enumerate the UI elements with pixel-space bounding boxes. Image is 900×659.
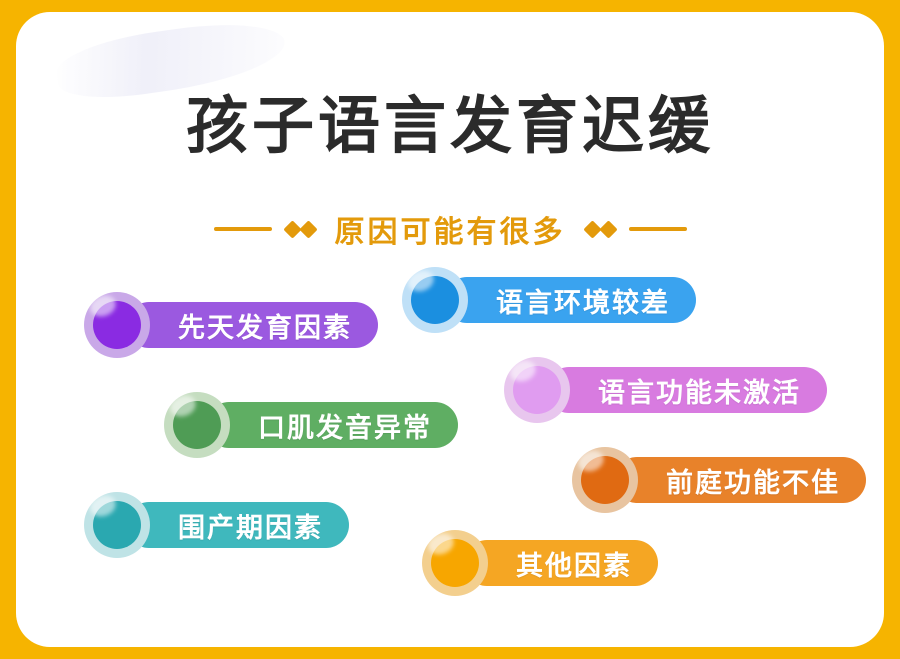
- ring-icon: [84, 492, 150, 558]
- cause-pill[interactable]: 口肌发音异常: [206, 402, 458, 448]
- cause-pill[interactable]: 语言环境较差: [444, 277, 696, 323]
- subtitle-text: 原因可能有很多: [329, 207, 572, 251]
- cause-label: 口肌发音异常: [258, 406, 432, 445]
- subtitle-line-right: [629, 227, 687, 231]
- cause-label: 前庭功能不佳: [666, 461, 840, 500]
- ring-inner-icon: [431, 539, 479, 587]
- cause-label: 先天发育因素: [178, 306, 352, 345]
- ring-icon: [84, 292, 150, 358]
- poster-root: 孩子语言发育迟缓 原因可能有很多 先天发育因素语言环境较差语言功能未激活口肌发音…: [0, 0, 900, 659]
- cause-pill[interactable]: 其他因素: [464, 540, 658, 586]
- cause-label: 语言功能未激活: [598, 371, 801, 410]
- diamond-icon: [583, 220, 601, 238]
- ring-icon: [422, 530, 488, 596]
- ring-inner-icon: [173, 401, 221, 449]
- cause-pill[interactable]: 先天发育因素: [126, 302, 378, 348]
- ring-inner-icon: [93, 501, 141, 549]
- ring-icon: [572, 447, 638, 513]
- ring-inner-icon: [581, 456, 629, 504]
- diamond-icon: [283, 220, 301, 238]
- ring-icon: [402, 267, 468, 333]
- ring-icon: [504, 357, 570, 423]
- cause-pill[interactable]: 语言功能未激活: [546, 367, 827, 413]
- subtitle-row: 原因可能有很多: [16, 207, 884, 251]
- subtitle-line-left: [214, 227, 272, 231]
- cause-pill[interactable]: 围产期因素: [126, 502, 349, 548]
- cause-label: 语言环境较差: [496, 281, 670, 320]
- cause-pill[interactable]: 前庭功能不佳: [614, 457, 866, 503]
- ring-inner-icon: [513, 366, 561, 414]
- ring-icon: [164, 392, 230, 458]
- ring-inner-icon: [93, 301, 141, 349]
- page-title: 孩子语言发育迟缓: [16, 90, 884, 163]
- diamond-group-left: [286, 223, 315, 236]
- diamond-icon: [599, 220, 617, 238]
- diamond-group-right: [586, 223, 615, 236]
- ring-inner-icon: [411, 276, 459, 324]
- cause-label: 围产期因素: [178, 506, 323, 545]
- cause-label: 其他因素: [516, 544, 632, 583]
- diamond-icon: [299, 220, 317, 238]
- poster-card: 孩子语言发育迟缓 原因可能有很多 先天发育因素语言环境较差语言功能未激活口肌发音…: [16, 12, 884, 647]
